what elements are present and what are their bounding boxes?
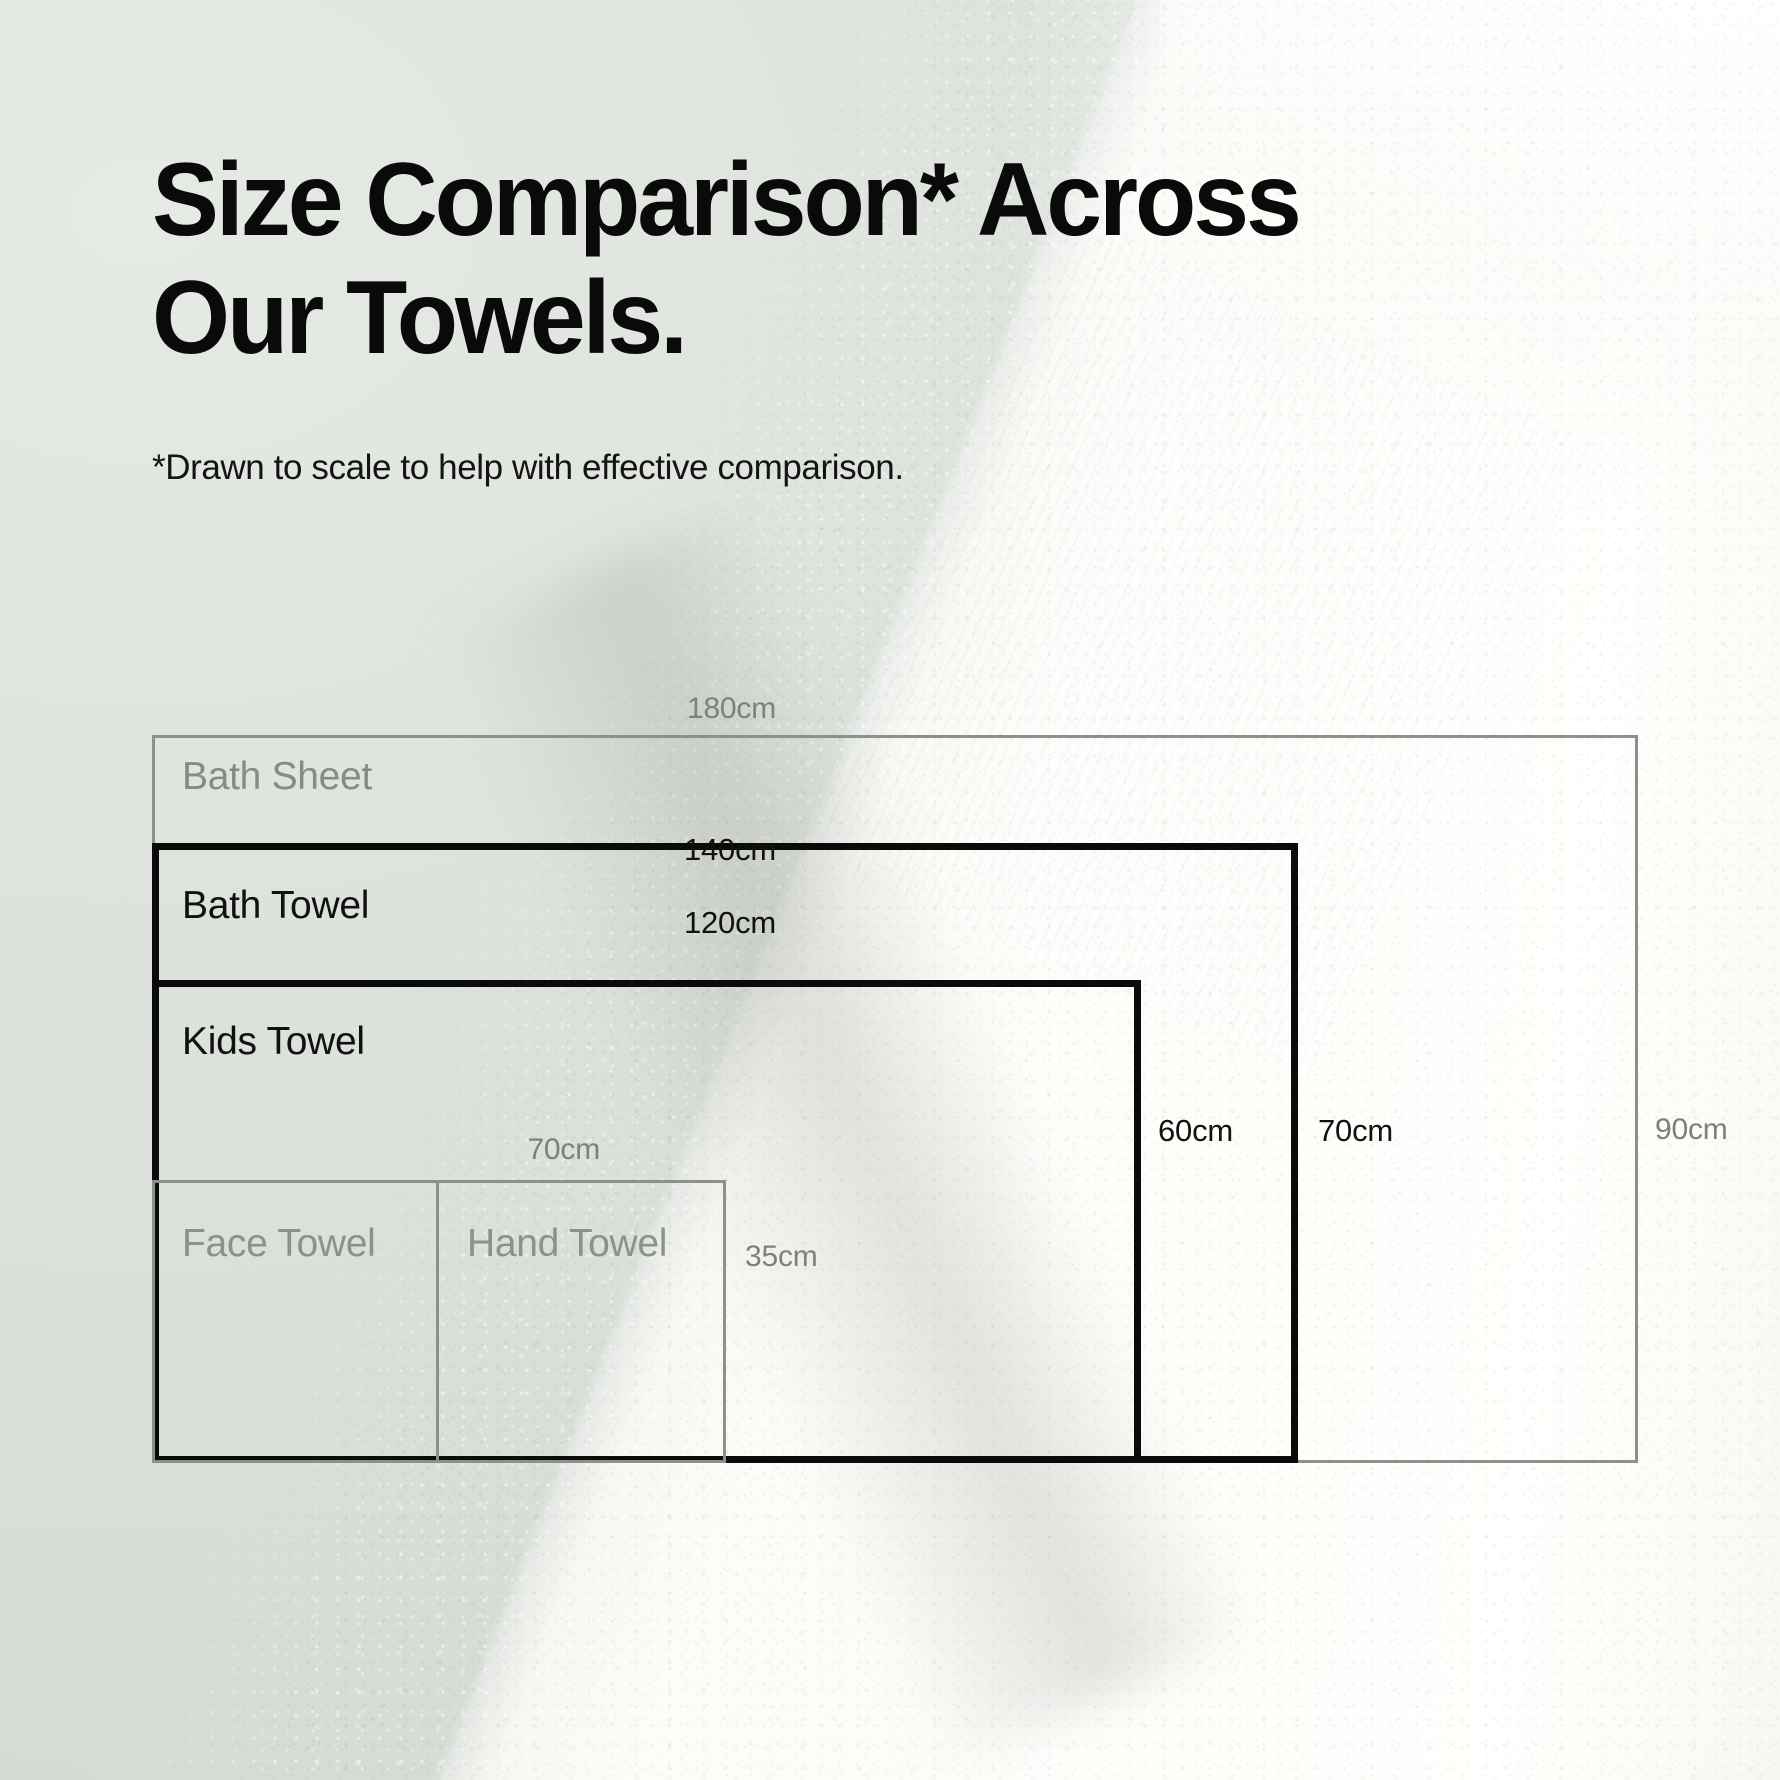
- dimension-height-70: 70cm: [1318, 1113, 1393, 1149]
- label-bath-sheet: Bath Sheet: [182, 755, 372, 799]
- label-kids-towel: Kids Towel: [182, 1020, 365, 1064]
- dimension-width-70: 70cm: [0, 1133, 600, 1167]
- size-comparison-diagram: Bath Sheet Bath Towel Kids Towel Face To…: [0, 0, 1780, 1780]
- dimension-height-35: 35cm: [745, 1240, 818, 1274]
- dimension-width-120: 120cm: [0, 905, 776, 941]
- dimension-height-60: 60cm: [1158, 1113, 1233, 1149]
- label-hand-towel: Hand Towel: [467, 1222, 667, 1266]
- dimension-width-180: 180cm: [0, 692, 776, 726]
- dimension-height-90: 90cm: [1655, 1113, 1728, 1147]
- dimension-width-140: 140cm: [0, 832, 776, 868]
- label-face-towel: Face Towel: [182, 1222, 376, 1266]
